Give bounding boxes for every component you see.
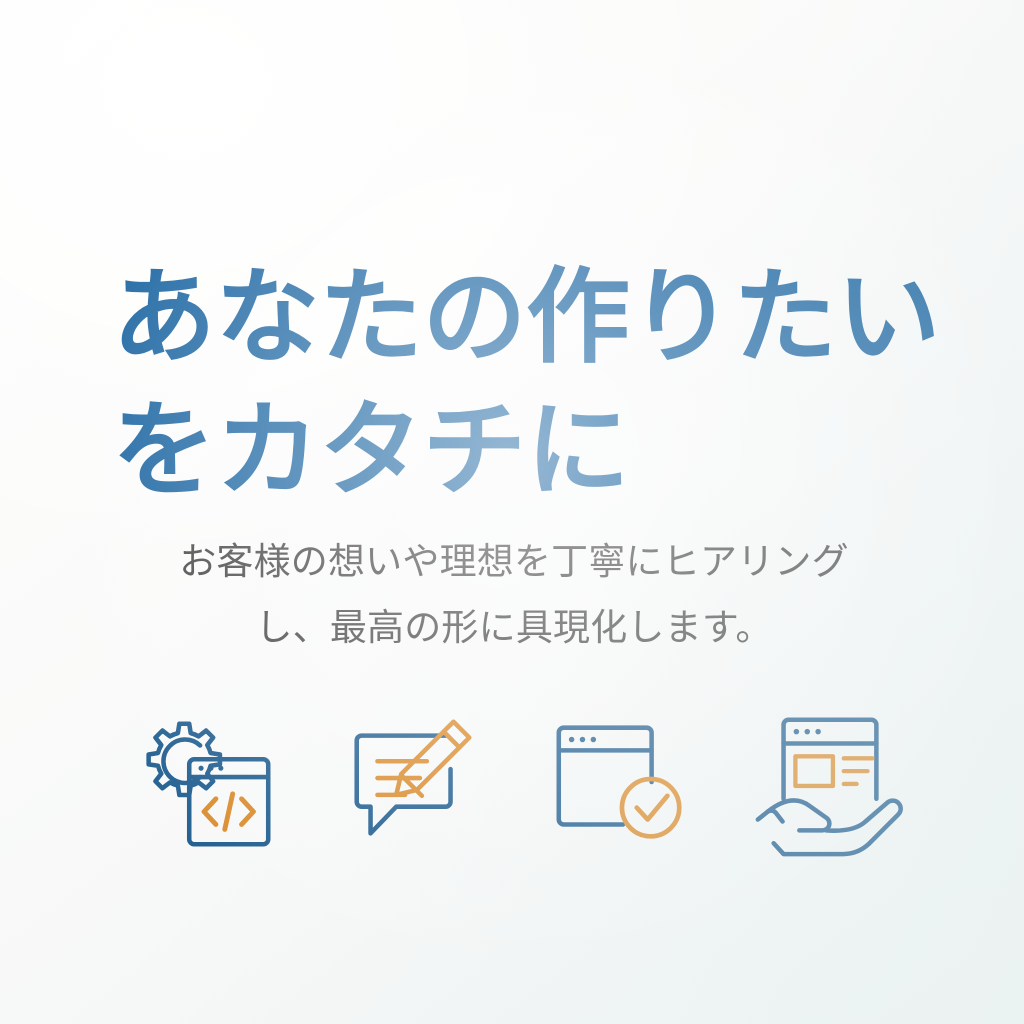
icon-cell-delivery: [742, 702, 912, 862]
icon-cell-hearing: [329, 702, 499, 862]
subtitle-line-1: お客様の想いや理想を丁寧にヒアリング: [96, 529, 932, 595]
subtitle-line-2: し、最高の形に具現化します。: [96, 595, 932, 661]
subtitle: お客様の想いや理想を丁寧にヒアリング し、最高の形に具現化します。: [96, 529, 932, 661]
chat-pencil-icon: [335, 706, 493, 858]
window-check-icon: [541, 706, 699, 858]
hero-banner: あなたの作りたい をカタチに お客様の想いや理想を丁寧にヒアリング し、最高の形…: [0, 0, 1024, 1024]
icon-cell-quality: [535, 702, 705, 862]
feature-icon-row: [122, 696, 912, 868]
page-title: あなたの作りたい をカタチに: [112, 252, 972, 518]
headline-line-1: あなたの作りたい: [112, 252, 972, 385]
hand-window-icon: [748, 706, 906, 858]
headline-line-2: をカタチに: [112, 385, 972, 518]
gear-code-window-icon: [128, 706, 286, 858]
icon-cell-development: [122, 702, 292, 862]
